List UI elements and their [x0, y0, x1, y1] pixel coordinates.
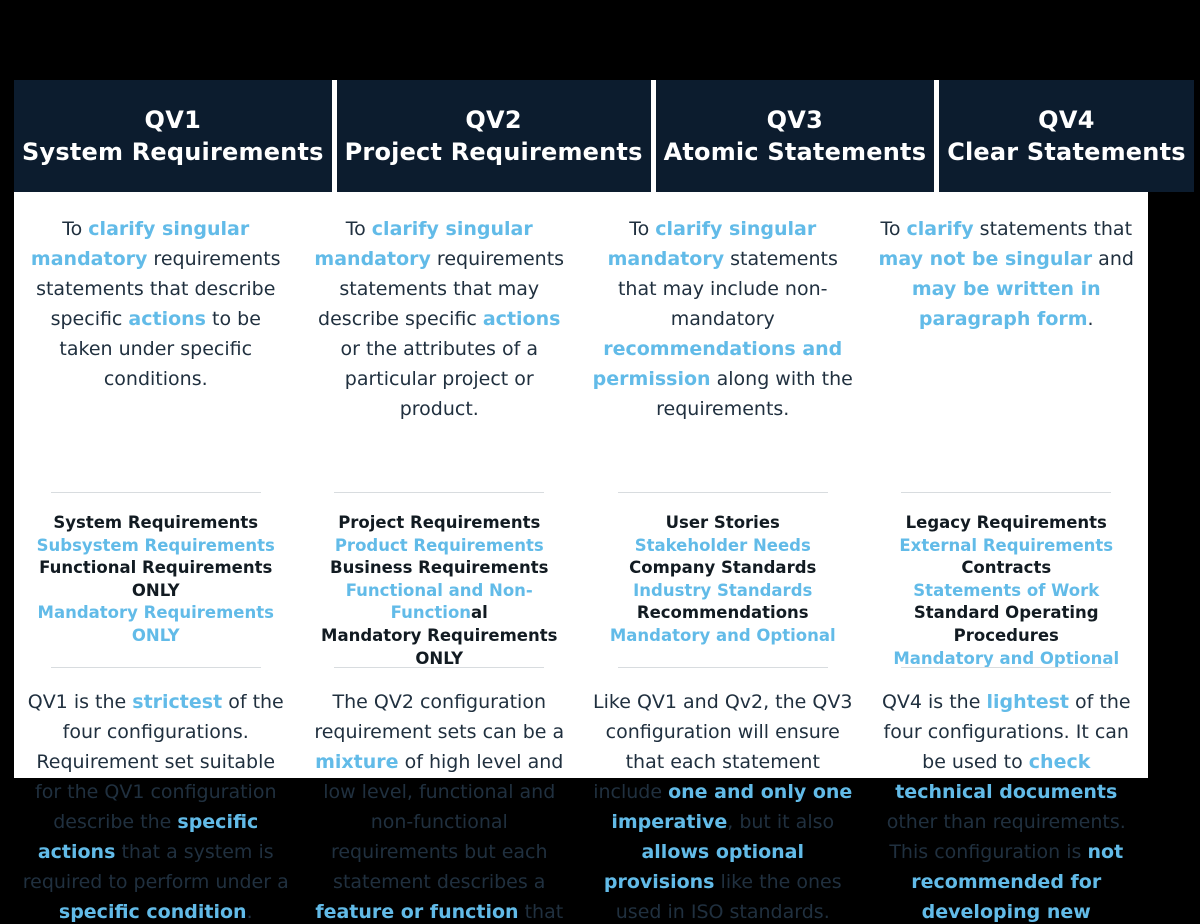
column-code-qv2: QV2: [465, 105, 522, 135]
section-divider: [901, 492, 1111, 493]
column-header-qv4[interactable]: QV4 Clear Statements: [939, 80, 1194, 192]
column-code-qv4: QV4: [1038, 105, 1095, 135]
column-qv4: To clarify statements that may not be si…: [865, 192, 1149, 778]
list-item-label: Business Requirements: [330, 558, 548, 577]
purpose-text-qv2: To clarify singular mandatory requiremen…: [308, 214, 570, 424]
section-divider: [618, 492, 828, 493]
list-item: Functional and Non-Functional: [298, 580, 582, 625]
section-divider: [51, 667, 261, 668]
outcome-text-qv3: Like QV1 and Qv2, the QV3 configuration …: [589, 687, 857, 924]
section-divider: [334, 667, 544, 668]
list-item-label: Project Requirements: [338, 513, 540, 532]
column-qv1: To clarify singular mandatory requiremen…: [14, 192, 298, 778]
purpose-text-qv4: To clarify statements that may not be si…: [875, 214, 1137, 334]
list-item: Business Requirements: [298, 557, 582, 580]
list-item-label: Mandatory Requirements ONLY: [38, 603, 274, 645]
list-item: Product Requirements: [298, 535, 582, 558]
screenshot-canvas: QV1 System Requirements QV2 Project Requ…: [0, 0, 1200, 924]
highlight-run: mixture: [315, 751, 398, 773]
text-run: To: [629, 218, 655, 240]
section-divider: [901, 667, 1111, 668]
list-item-label: Mandatory and Optional: [610, 626, 836, 645]
list-item-label: Subsystem Requirements: [37, 536, 275, 555]
outcome-text-qv2: The QV2 configuration requirement sets c…: [305, 687, 573, 924]
list-item-label: Mandatory and Optional: [893, 649, 1119, 668]
list-item-label: External Requirements: [899, 536, 1113, 555]
list-item: Mandatory Requirements ONLY: [14, 602, 298, 647]
purpose-text-qv1: To clarify singular mandatory requiremen…: [25, 214, 287, 394]
text-run: To: [346, 218, 372, 240]
column-qv2: To clarify singular mandatory requiremen…: [298, 192, 582, 778]
highlight-run: feature or function: [315, 901, 518, 923]
text-run: The QV2 configuration requirement sets c…: [314, 691, 564, 743]
list-item: System Requirements: [14, 512, 298, 535]
text-run: .: [1088, 308, 1094, 330]
list-item: Project Requirements: [298, 512, 582, 535]
column-name-qv2: Project Requirements: [345, 137, 643, 167]
column-name-qv3: Atomic Statements: [664, 137, 927, 167]
applicable-types-qv4: Legacy RequirementsExternal Requirements…: [865, 512, 1149, 670]
list-item-label: Company Standards: [629, 558, 816, 577]
list-item-label: Recommendations: [637, 603, 809, 622]
column-code-qv1: QV1: [145, 105, 202, 135]
column-code-qv3: QV3: [767, 105, 824, 135]
list-item-label: Legacy Requirements: [906, 513, 1107, 532]
body-row: To clarify singular mandatory requiremen…: [14, 192, 1148, 778]
list-item-label: User Stories: [666, 513, 780, 532]
text-run: To: [880, 218, 906, 240]
highlight-run: strictest: [132, 691, 222, 713]
list-item-label: Industry Standards: [633, 581, 812, 600]
list-item: Legacy Requirements: [865, 512, 1149, 535]
column-header-qv1[interactable]: QV1 System Requirements: [14, 80, 332, 192]
applicable-types-qv1: System RequirementsSubsystem Requirement…: [14, 512, 298, 648]
section-divider: [51, 492, 261, 493]
list-item-label: Product Requirements: [335, 536, 544, 555]
highlight-run: actions: [128, 308, 206, 330]
list-item-label: Mandatory Requirements ONLY: [321, 626, 557, 668]
outcome-text-qv4: QV4 is the lightest of the four configur…: [872, 687, 1140, 924]
list-item-label: Statements of Work: [913, 581, 1099, 600]
list-item-label: Stakeholder Needs: [635, 536, 811, 555]
section-divider: [618, 667, 828, 668]
list-item: Contracts: [865, 557, 1149, 580]
list-item: Recommendations: [581, 602, 865, 625]
highlight-run: specific condition: [59, 901, 247, 923]
list-item: External Requirements: [865, 535, 1149, 558]
list-item: User Stories: [581, 512, 865, 535]
highlight-run: clarify: [907, 218, 974, 240]
header-row: QV1 System Requirements QV2 Project Requ…: [14, 80, 1148, 192]
applicable-types-qv3: User StoriesStakeholder NeedsCompany Sta…: [581, 512, 865, 648]
qv-comparison-card: QV1 System Requirements QV2 Project Requ…: [14, 80, 1148, 778]
applicable-types-qv2: Project RequirementsProduct Requirements…: [298, 512, 582, 670]
list-item-label: Functional and Non-Function: [346, 581, 533, 623]
list-item-label: Standard Operating Procedures: [914, 603, 1099, 645]
highlight-run: lightest: [986, 691, 1069, 713]
list-item: Subsystem Requirements: [14, 535, 298, 558]
text-run: , but it also: [727, 811, 834, 833]
text-run: To: [62, 218, 88, 240]
list-item: Mandatory Requirements ONLY: [298, 625, 582, 670]
list-item: Standard Operating Procedures: [865, 602, 1149, 647]
list-item: Statements of Work: [865, 580, 1149, 603]
list-item-label: Functional Requirements ONLY: [39, 558, 272, 600]
text-run: QV4 is the: [882, 691, 987, 713]
text-run: or the attributes of a particular projec…: [340, 338, 538, 420]
purpose-text-qv3: To clarify singular mandatory statements…: [592, 214, 854, 424]
text-run: .: [247, 901, 253, 923]
list-item: Mandatory and Optional: [581, 625, 865, 648]
text-run: and: [1092, 248, 1134, 270]
column-qv3: To clarify singular mandatory statements…: [581, 192, 865, 778]
highlight-run: may not be singular: [879, 248, 1093, 270]
list-item: Functional Requirements ONLY: [14, 557, 298, 602]
column-name-qv4: Clear Statements: [947, 137, 1186, 167]
list-item: Stakeholder Needs: [581, 535, 865, 558]
text-run: QV1 is the: [28, 691, 133, 713]
list-item-label: Contracts: [961, 558, 1051, 577]
column-header-qv3[interactable]: QV3 Atomic Statements: [656, 80, 935, 192]
column-name-qv1: System Requirements: [22, 137, 324, 167]
column-header-qv2[interactable]: QV2 Project Requirements: [337, 80, 651, 192]
text-run: statements that: [974, 218, 1132, 240]
list-item: Company Standards: [581, 557, 865, 580]
section-divider: [334, 492, 544, 493]
list-item-label: System Requirements: [53, 513, 258, 532]
list-item-label-suffix: al: [471, 603, 488, 622]
list-item: Industry Standards: [581, 580, 865, 603]
highlight-run: actions: [483, 308, 561, 330]
outcome-text-qv1: QV1 is the strictest of the four configu…: [22, 687, 290, 924]
highlight-run: may be written in paragraph form: [912, 278, 1101, 330]
